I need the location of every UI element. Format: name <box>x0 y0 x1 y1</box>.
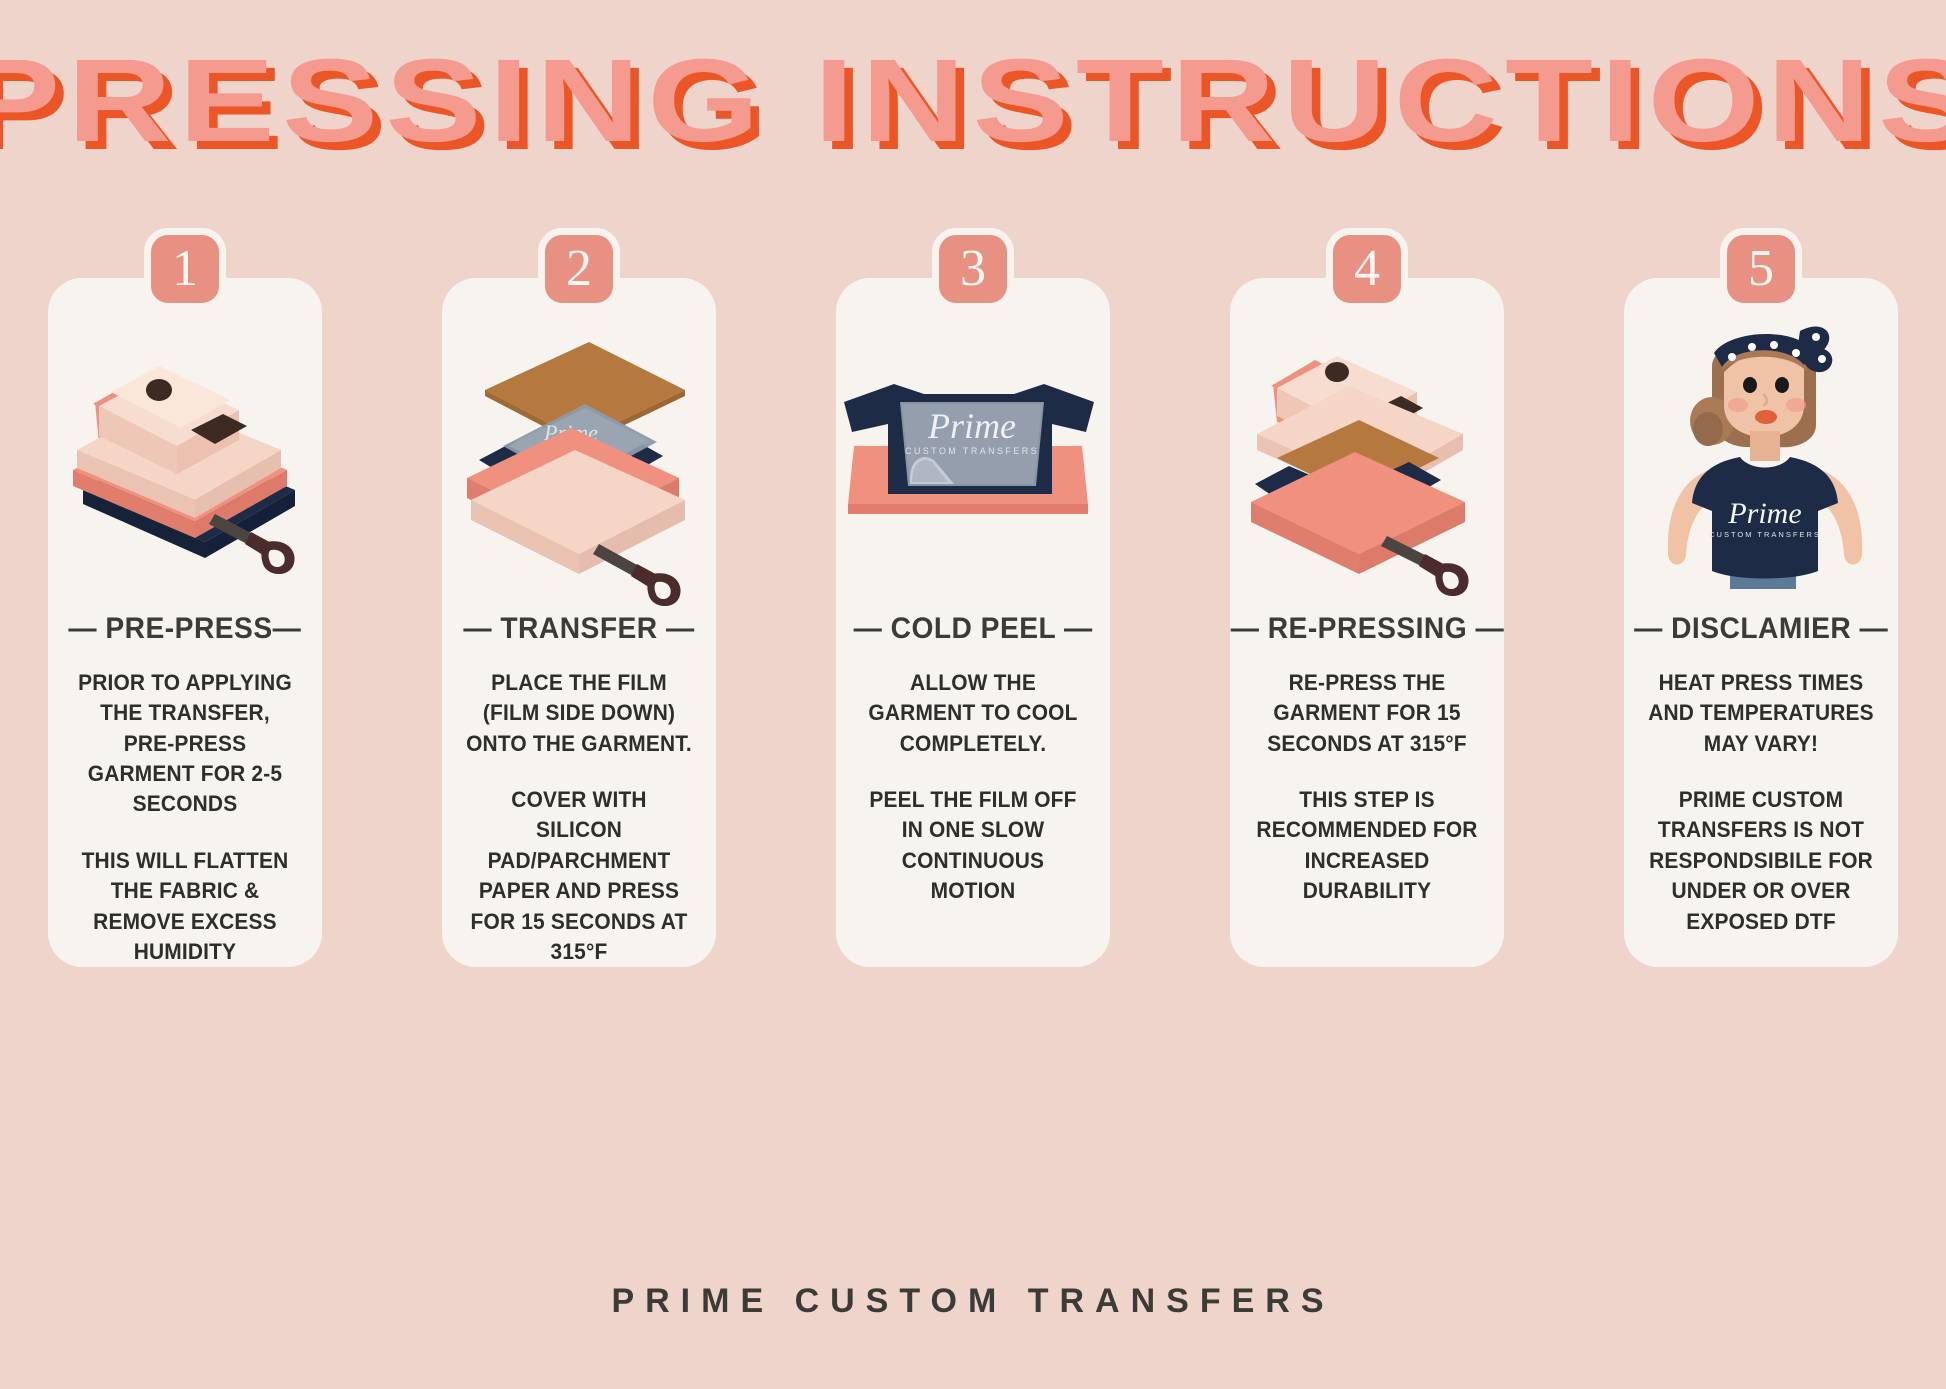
step-heading-2: — TRANSFER — <box>463 612 694 646</box>
step-paragraph-1-1: PRIOR TO APPLYING THE TRANSFER, PRE-PRES… <box>68 668 302 820</box>
step-heading-5: — DISCLAMIER — <box>1634 612 1888 646</box>
step-card-2: 2 Prime <box>442 278 716 967</box>
parchment-paper-over-film-on-garment-icon: Prime <box>449 328 709 578</box>
step-paragraph-1-2: THIS WILL FLATTEN THE FABRIC & REMOVE EX… <box>68 846 302 967</box>
step-illustration-1 <box>62 308 308 598</box>
step-paragraph-4-1: RE-PRESS THE GARMENT FOR 15 SECONDS AT 3… <box>1250 668 1484 759</box>
step-heading-3: — COLD PEEL — <box>853 612 1092 646</box>
step-badge-5: 5 <box>1720 228 1802 310</box>
page-title-text: PRESSING INSTRUCTIONS <box>0 35 1946 167</box>
step-illustration-4: Prime <box>1244 308 1490 598</box>
step-paragraph-2-1: PLACE THE FILM (FILM SIDE DOWN) ONTO THE… <box>462 668 696 759</box>
step-illustration-2: Prime <box>456 308 702 598</box>
step-paragraph-3-2: PEEL THE FILM OFF IN ONE SLOW CONTINUOUS… <box>856 785 1090 906</box>
navy-tshirt-with-film-peeling-icon: Prime CUSTOM TRANSFERS <box>838 328 1108 578</box>
woman-wearing-printed-tshirt-icon: Prime CUSTOM TRANSFERS <box>1646 313 1876 593</box>
step-badge-2: 2 <box>538 228 620 310</box>
step-paragraph-5-1: HEAT PRESS TIMES AND TEMPERATURES MAY VA… <box>1644 668 1878 759</box>
step-badge-4: 4 <box>1326 228 1408 310</box>
step-heading-4: — RE-PRESSING — <box>1230 612 1503 646</box>
step-card-4: 4 Prime <box>1230 278 1504 967</box>
step-card-1: 1 <box>48 278 322 967</box>
step-illustration-3: Prime CUSTOM TRANSFERS <box>850 308 1096 598</box>
step-paragraph-3-1: ALLOW THE GARMENT TO COOL COMPLETELY. <box>856 668 1090 759</box>
woman-shirt-logo-script: Prime <box>1727 497 1801 530</box>
step-paragraph-2-2: COVER WITH SILICON PAD/PARCHMENT PAPER A… <box>462 785 696 967</box>
page-title: PRESSING INSTRUCTIONS PRESSING INSTRUCTI… <box>0 42 1946 160</box>
step-card-3: 3 Prime CUSTOM TRANSFERS — COLD PEEL — A… <box>836 278 1110 967</box>
heat-press-re-pressing-garment-icon: Prime <box>1237 328 1497 578</box>
step-illustration-5: Prime CUSTOM TRANSFERS <box>1638 308 1884 598</box>
step-paragraph-4-2: THIS STEP IS RECOMMENDED FOR INCREASED D… <box>1250 785 1484 906</box>
shirt-logo-script: Prime <box>927 406 1016 446</box>
step-paragraph-5-2: PRIME CUSTOM TRANSFERS IS NOT RESPONDSIB… <box>1644 785 1878 937</box>
footer-brand: PRIME CUSTOM TRANSFERS <box>0 1282 1946 1321</box>
step-badge-3: 3 <box>932 228 1014 310</box>
step-card-5: 5 <box>1624 278 1898 967</box>
page-title-container: PRESSING INSTRUCTIONS PRESSING INSTRUCTI… <box>0 42 1946 182</box>
woman-shirt-logo-sub: CUSTOM TRANSFERS <box>1709 530 1821 539</box>
step-badge-1: 1 <box>144 228 226 310</box>
steps-row: 1 <box>48 278 1898 967</box>
step-heading-1: — PRE-PRESS— <box>69 612 302 646</box>
shirt-logo-sub: CUSTOM TRANSFERS <box>905 446 1039 456</box>
heat-press-closing-on-garment-icon <box>55 328 315 578</box>
